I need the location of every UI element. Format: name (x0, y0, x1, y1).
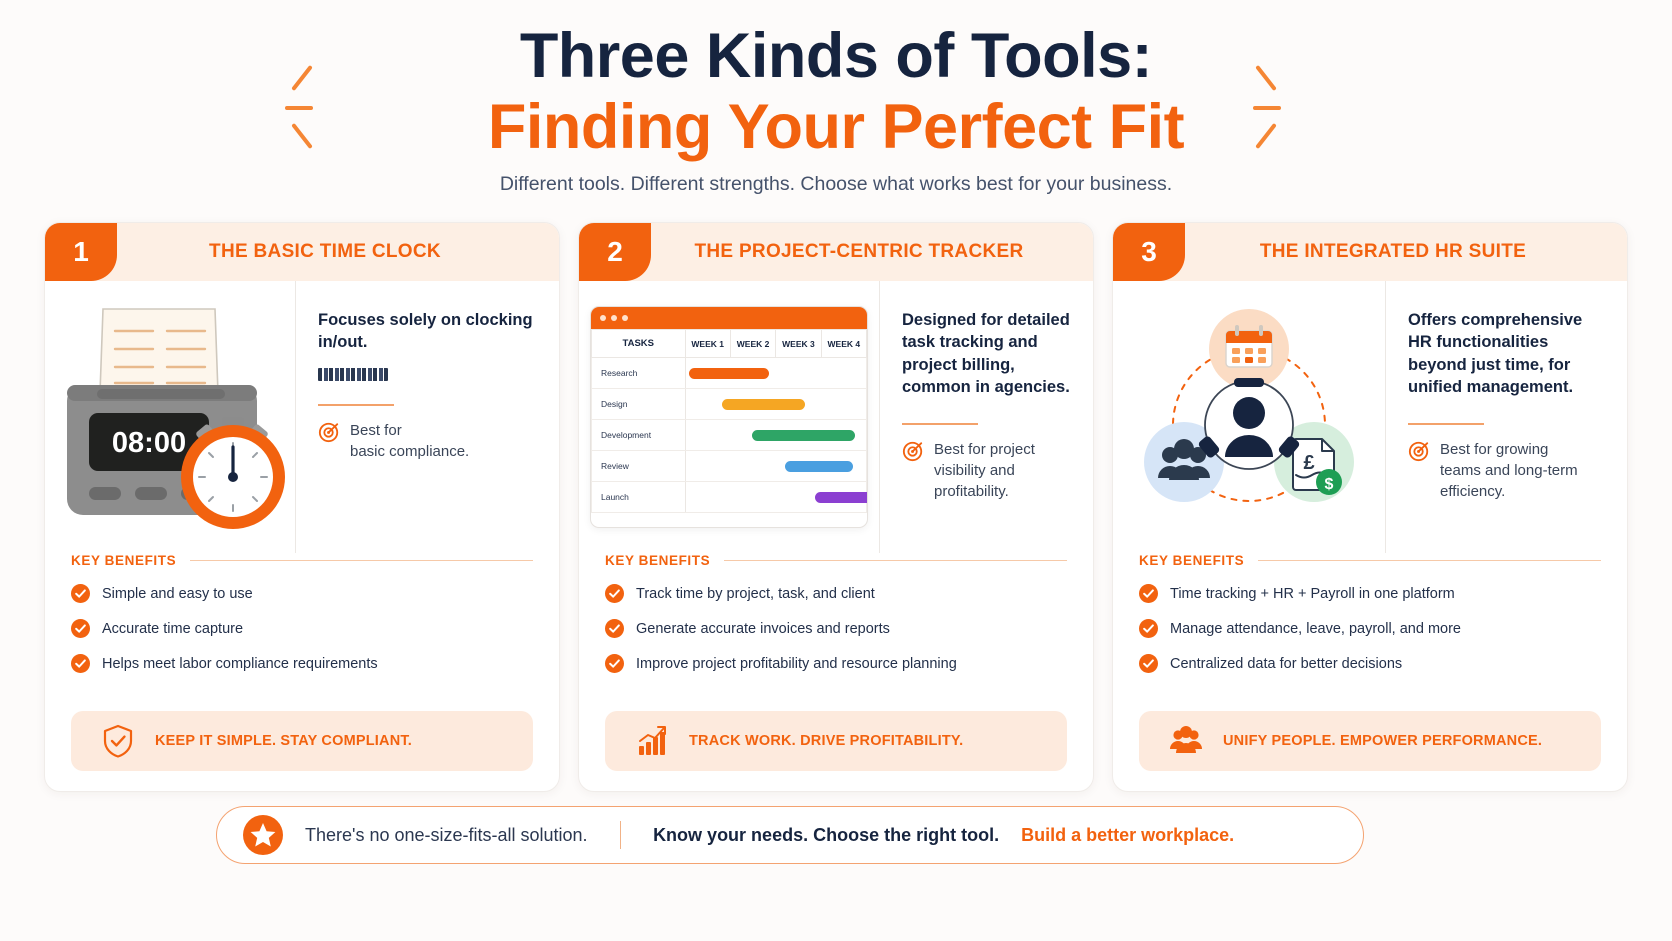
check-circle-icon (605, 619, 624, 638)
key-benefits-section: KEY BENEFITS Simple and easy to use Accu… (45, 553, 559, 673)
card-header: 1 THE BASIC TIME CLOCK (45, 223, 559, 281)
banner-text: TRACK WORK. DRIVE PROFITABILITY. (689, 733, 963, 749)
benefit-text: Accurate time capture (102, 621, 243, 637)
column-header: TASKS (592, 330, 686, 358)
gantt-table: TASKS WEEK 1 WEEK 2 WEEK 3 WEEK 4 Resear… (591, 329, 867, 513)
check-circle-icon (71, 619, 90, 638)
bar-cell (685, 482, 867, 513)
card-title: THE INTEGRATED HR SUITE (1113, 241, 1627, 263)
best-for-row: Best for basic compliance. (318, 420, 541, 463)
card-number-badge: 3 (1113, 223, 1185, 281)
best-for-text: Best for project visibility and profitab… (934, 439, 1035, 503)
page-subtitle: Different tools. Different strengths. Ch… (0, 173, 1672, 196)
card-body: TASKS WEEK 1 WEEK 2 WEEK 3 WEEK 4 Resear… (579, 281, 1093, 553)
divider (620, 821, 622, 849)
gantt-bar-launch (815, 492, 868, 503)
card-number-badge: 2 (579, 223, 651, 281)
column-header: WEEK 4 (821, 330, 866, 358)
render-artifact-text (318, 368, 388, 381)
table-row: Review (592, 451, 867, 482)
list-item: Improve project profitability and resour… (605, 654, 1067, 673)
banner-text: UNIFY PEOPLE. EMPOWER PERFORMANCE. (1223, 733, 1542, 749)
window-dot (622, 315, 628, 321)
benefit-text: Track time by project, task, and client (636, 586, 875, 602)
card-description: Designed for detailed task tracking and … (902, 309, 1075, 399)
card-integrated-hr-suite[interactable]: 3 THE INTEGRATED HR SUITE (1112, 222, 1628, 792)
target-icon (1408, 440, 1430, 462)
gantt-bar-research (689, 368, 768, 379)
best-for-text: Best for growing teams and long-term eff… (1440, 439, 1578, 503)
footer-bar: There's no one-size-fits-all solution. K… (216, 806, 1364, 864)
card-description-panel: Designed for detailed task tracking and … (879, 281, 1093, 553)
divider (190, 560, 533, 561)
check-circle-icon (605, 584, 624, 603)
gantt-bar-development (752, 430, 855, 441)
svg-text:$: $ (1325, 476, 1334, 493)
benefit-text: Helps meet labor compliance requirements (102, 656, 378, 672)
column-header: WEEK 3 (776, 330, 821, 358)
benefit-text: Manage attendance, leave, payroll, and m… (1170, 621, 1461, 637)
check-circle-icon (71, 584, 90, 603)
card-number-badge: 1 (45, 223, 117, 281)
key-benefits-title: KEY BENEFITS (1139, 553, 1244, 568)
task-label: Design (592, 389, 686, 420)
bar-cell (685, 358, 867, 389)
column-header: WEEK 2 (730, 330, 775, 358)
star-badge-icon (243, 815, 283, 855)
card-banner: UNIFY PEOPLE. EMPOWER PERFORMANCE. (1139, 711, 1601, 771)
footer-text-a: There's no one-size-fits-all solution. (305, 825, 588, 846)
key-benefits-section: KEY BENEFITS Track time by project, task… (579, 553, 1093, 673)
gantt-bar-design (722, 399, 805, 410)
divider (318, 404, 394, 406)
card-header: 3 THE INTEGRATED HR SUITE (1113, 223, 1627, 281)
footer-text-c: Build a better workplace. (1021, 825, 1234, 846)
footer-text-b: Know your needs. Choose the right tool. (653, 825, 999, 846)
gantt-chart-illustration: TASKS WEEK 1 WEEK 2 WEEK 3 WEEK 4 Resear… (579, 281, 879, 553)
divider (1408, 423, 1484, 425)
target-icon (902, 440, 924, 462)
column-header: WEEK 1 (685, 330, 730, 358)
card-body: 08:00 (45, 281, 559, 553)
list-item: Centralized data for better decisions (1139, 654, 1601, 673)
time-clock-illustration: 08:00 (45, 281, 295, 553)
bar-cell (685, 420, 867, 451)
benefit-text: Centralized data for better decisions (1170, 656, 1402, 672)
list-item: Manage attendance, leave, payroll, and m… (1139, 619, 1601, 638)
people-group-icon (1169, 724, 1203, 758)
key-benefits-header: KEY BENEFITS (605, 553, 1067, 568)
list-item: Helps meet labor compliance requirements (71, 654, 533, 673)
key-benefits-title: KEY BENEFITS (605, 553, 710, 568)
clock-display-value: 08:00 (112, 427, 186, 459)
key-benefits-header: KEY BENEFITS (71, 553, 533, 568)
card-header: 2 THE PROJECT-CENTRIC TRACKER (579, 223, 1093, 281)
window-dot (600, 315, 606, 321)
divider (902, 423, 978, 425)
card-banner: TRACK WORK. DRIVE PROFITABILITY. (605, 711, 1067, 771)
benefit-text: Generate accurate invoices and reports (636, 621, 890, 637)
list-item: Time tracking + HR + Payroll in one plat… (1139, 584, 1601, 603)
check-circle-icon (1139, 619, 1158, 638)
card-description: Offers comprehensive HR functionalities … (1408, 309, 1609, 399)
key-benefits-section: KEY BENEFITS Time tracking + HR + Payrol… (1113, 553, 1627, 673)
task-label: Development (592, 420, 686, 451)
table-row: Research (592, 358, 867, 389)
table-row: Design (592, 389, 867, 420)
window-titlebar (591, 307, 867, 329)
time-clock-svg: 08:00 (55, 297, 285, 537)
benefit-text: Simple and easy to use (102, 586, 253, 602)
best-for-text: Best for basic compliance. (350, 420, 469, 463)
card-basic-time-clock[interactable]: 1 THE BASIC TIME CLOCK (44, 222, 560, 792)
list-item: Generate accurate invoices and reports (605, 619, 1067, 638)
gantt-window: TASKS WEEK 1 WEEK 2 WEEK 3 WEEK 4 Resear… (590, 306, 868, 528)
card-title: THE BASIC TIME CLOCK (45, 241, 559, 263)
window-dot (611, 315, 617, 321)
infographic-page: Three Kinds of Tools: Finding Your Perfe… (0, 0, 1672, 941)
hr-hub-svg: £ $ (1124, 297, 1374, 537)
bar-cell (685, 389, 867, 420)
best-for-row: Best for growing teams and long-term eff… (1408, 439, 1609, 503)
benefit-text: Time tracking + HR + Payroll in one plat… (1170, 586, 1455, 602)
key-benefits-header: KEY BENEFITS (1139, 553, 1601, 568)
key-benefits-title: KEY BENEFITS (71, 553, 176, 568)
card-description: Focuses solely on clocking in/out. (318, 309, 541, 354)
shield-check-icon (101, 724, 135, 758)
divider (724, 560, 1067, 561)
card-banner: KEEP IT SIMPLE. STAY COMPLIANT. (71, 711, 533, 771)
divider (1258, 560, 1601, 561)
card-description-panel: Offers comprehensive HR functionalities … (1385, 281, 1627, 553)
check-circle-icon (1139, 654, 1158, 673)
check-circle-icon (1139, 584, 1158, 603)
table-row: Launch (592, 482, 867, 513)
check-circle-icon (71, 654, 90, 673)
svg-text:£: £ (1303, 452, 1314, 474)
header: Three Kinds of Tools: Finding Your Perfe… (0, 0, 1672, 215)
task-label: Launch (592, 482, 686, 513)
task-label: Review (592, 451, 686, 482)
list-item: Track time by project, task, and client (605, 584, 1067, 603)
best-for-row: Best for project visibility and profitab… (902, 439, 1075, 503)
card-description-panel: Focuses solely on clocking in/out. Best … (295, 281, 559, 553)
growth-chart-icon (635, 724, 669, 758)
bar-cell (685, 451, 867, 482)
card-project-centric-tracker[interactable]: 2 THE PROJECT-CENTRIC TRACKER (578, 222, 1094, 792)
target-icon (318, 421, 340, 443)
table-header-row: TASKS WEEK 1 WEEK 2 WEEK 3 WEEK 4 (592, 330, 867, 358)
banner-text: KEEP IT SIMPLE. STAY COMPLIANT. (155, 733, 412, 749)
gantt-bar-review (785, 461, 854, 472)
cards-container: 1 THE BASIC TIME CLOCK (44, 222, 1630, 792)
check-circle-icon (605, 654, 624, 673)
list-item: Accurate time capture (71, 619, 533, 638)
card-title: THE PROJECT-CENTRIC TRACKER (579, 241, 1093, 263)
list-item: Simple and easy to use (71, 584, 533, 603)
table-row: Development (592, 420, 867, 451)
page-title-line1: Three Kinds of Tools: (0, 22, 1672, 90)
card-body: £ $ (1113, 281, 1627, 553)
task-label: Research (592, 358, 686, 389)
hr-hub-illustration: £ $ (1113, 281, 1385, 553)
benefit-text: Improve project profitability and resour… (636, 656, 957, 672)
page-title-line2: Finding Your Perfect Fit (0, 93, 1672, 161)
